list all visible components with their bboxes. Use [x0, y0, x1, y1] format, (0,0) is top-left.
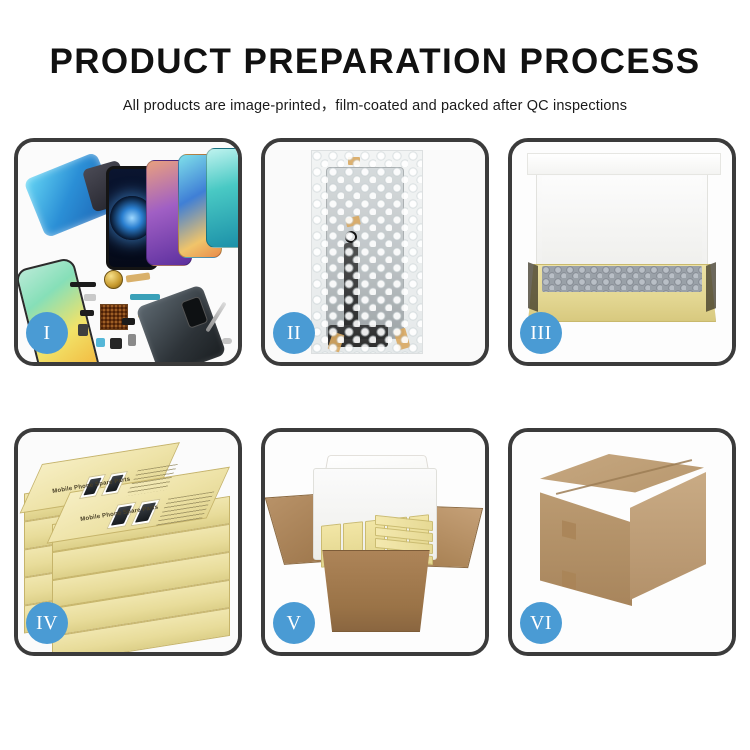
process-step-card-5: V: [261, 428, 489, 656]
spare-part-bar-icon: [70, 282, 96, 287]
flex-cable-icon: [126, 272, 151, 282]
process-step-card-6: VI: [508, 428, 736, 656]
process-step-card-2: II: [261, 138, 489, 366]
box-edge-right: [706, 262, 716, 312]
blue-screen-film-icon: [23, 152, 119, 239]
bubble-wrap-bag-icon: [311, 150, 423, 354]
step-badge-2: II: [273, 312, 315, 354]
carton-tape-icon: [562, 520, 576, 539]
step-badge-6: VI: [520, 602, 562, 644]
small-part-icon: [122, 318, 135, 325]
small-part-icon: [78, 324, 88, 336]
process-step-card-4: Mobile Phone Spare Parts Mobile Phone Sp…: [14, 428, 242, 656]
carton-side-face: [630, 472, 706, 600]
process-step-grid: I II: [14, 138, 736, 694]
screwdriver-bit-icon: [222, 338, 232, 344]
small-part-icon: [110, 338, 122, 349]
teal-phone-icon: [206, 148, 238, 248]
small-part-icon: [84, 294, 96, 301]
page-subtitle: All products are image-printed，film-coat…: [0, 94, 750, 115]
step-badge-4: IV: [26, 602, 68, 644]
header: PRODUCT PREPARATION PROCESS All products…: [0, 0, 750, 115]
step-badge-1: I: [26, 312, 68, 354]
connector-cable-icon: [130, 294, 160, 300]
process-step-card-3: III: [508, 138, 736, 366]
small-part-icon: [80, 310, 94, 316]
bubble-texture: [312, 151, 422, 353]
step-badge-3: III: [520, 312, 562, 354]
step-badge-5: V: [273, 602, 315, 644]
box-edge-left: [528, 262, 538, 312]
gray-bubble-wrap-icon: [542, 266, 702, 292]
small-part-icon: [96, 338, 105, 347]
white-foam-sheet-icon: [542, 176, 702, 268]
cardboard-carton-icon: [315, 550, 437, 632]
speaker-module-icon: [104, 270, 123, 289]
carton-tape-icon: [562, 570, 576, 589]
page-title: PRODUCT PREPARATION PROCESS: [0, 44, 750, 81]
product-preparation-process-page: PRODUCT PREPARATION PROCESS All products…: [0, 0, 750, 750]
carton-front-face: [540, 490, 632, 606]
process-step-card-1: I: [14, 138, 242, 366]
chip-grid-icon: [100, 304, 128, 330]
small-part-icon: [128, 334, 136, 346]
